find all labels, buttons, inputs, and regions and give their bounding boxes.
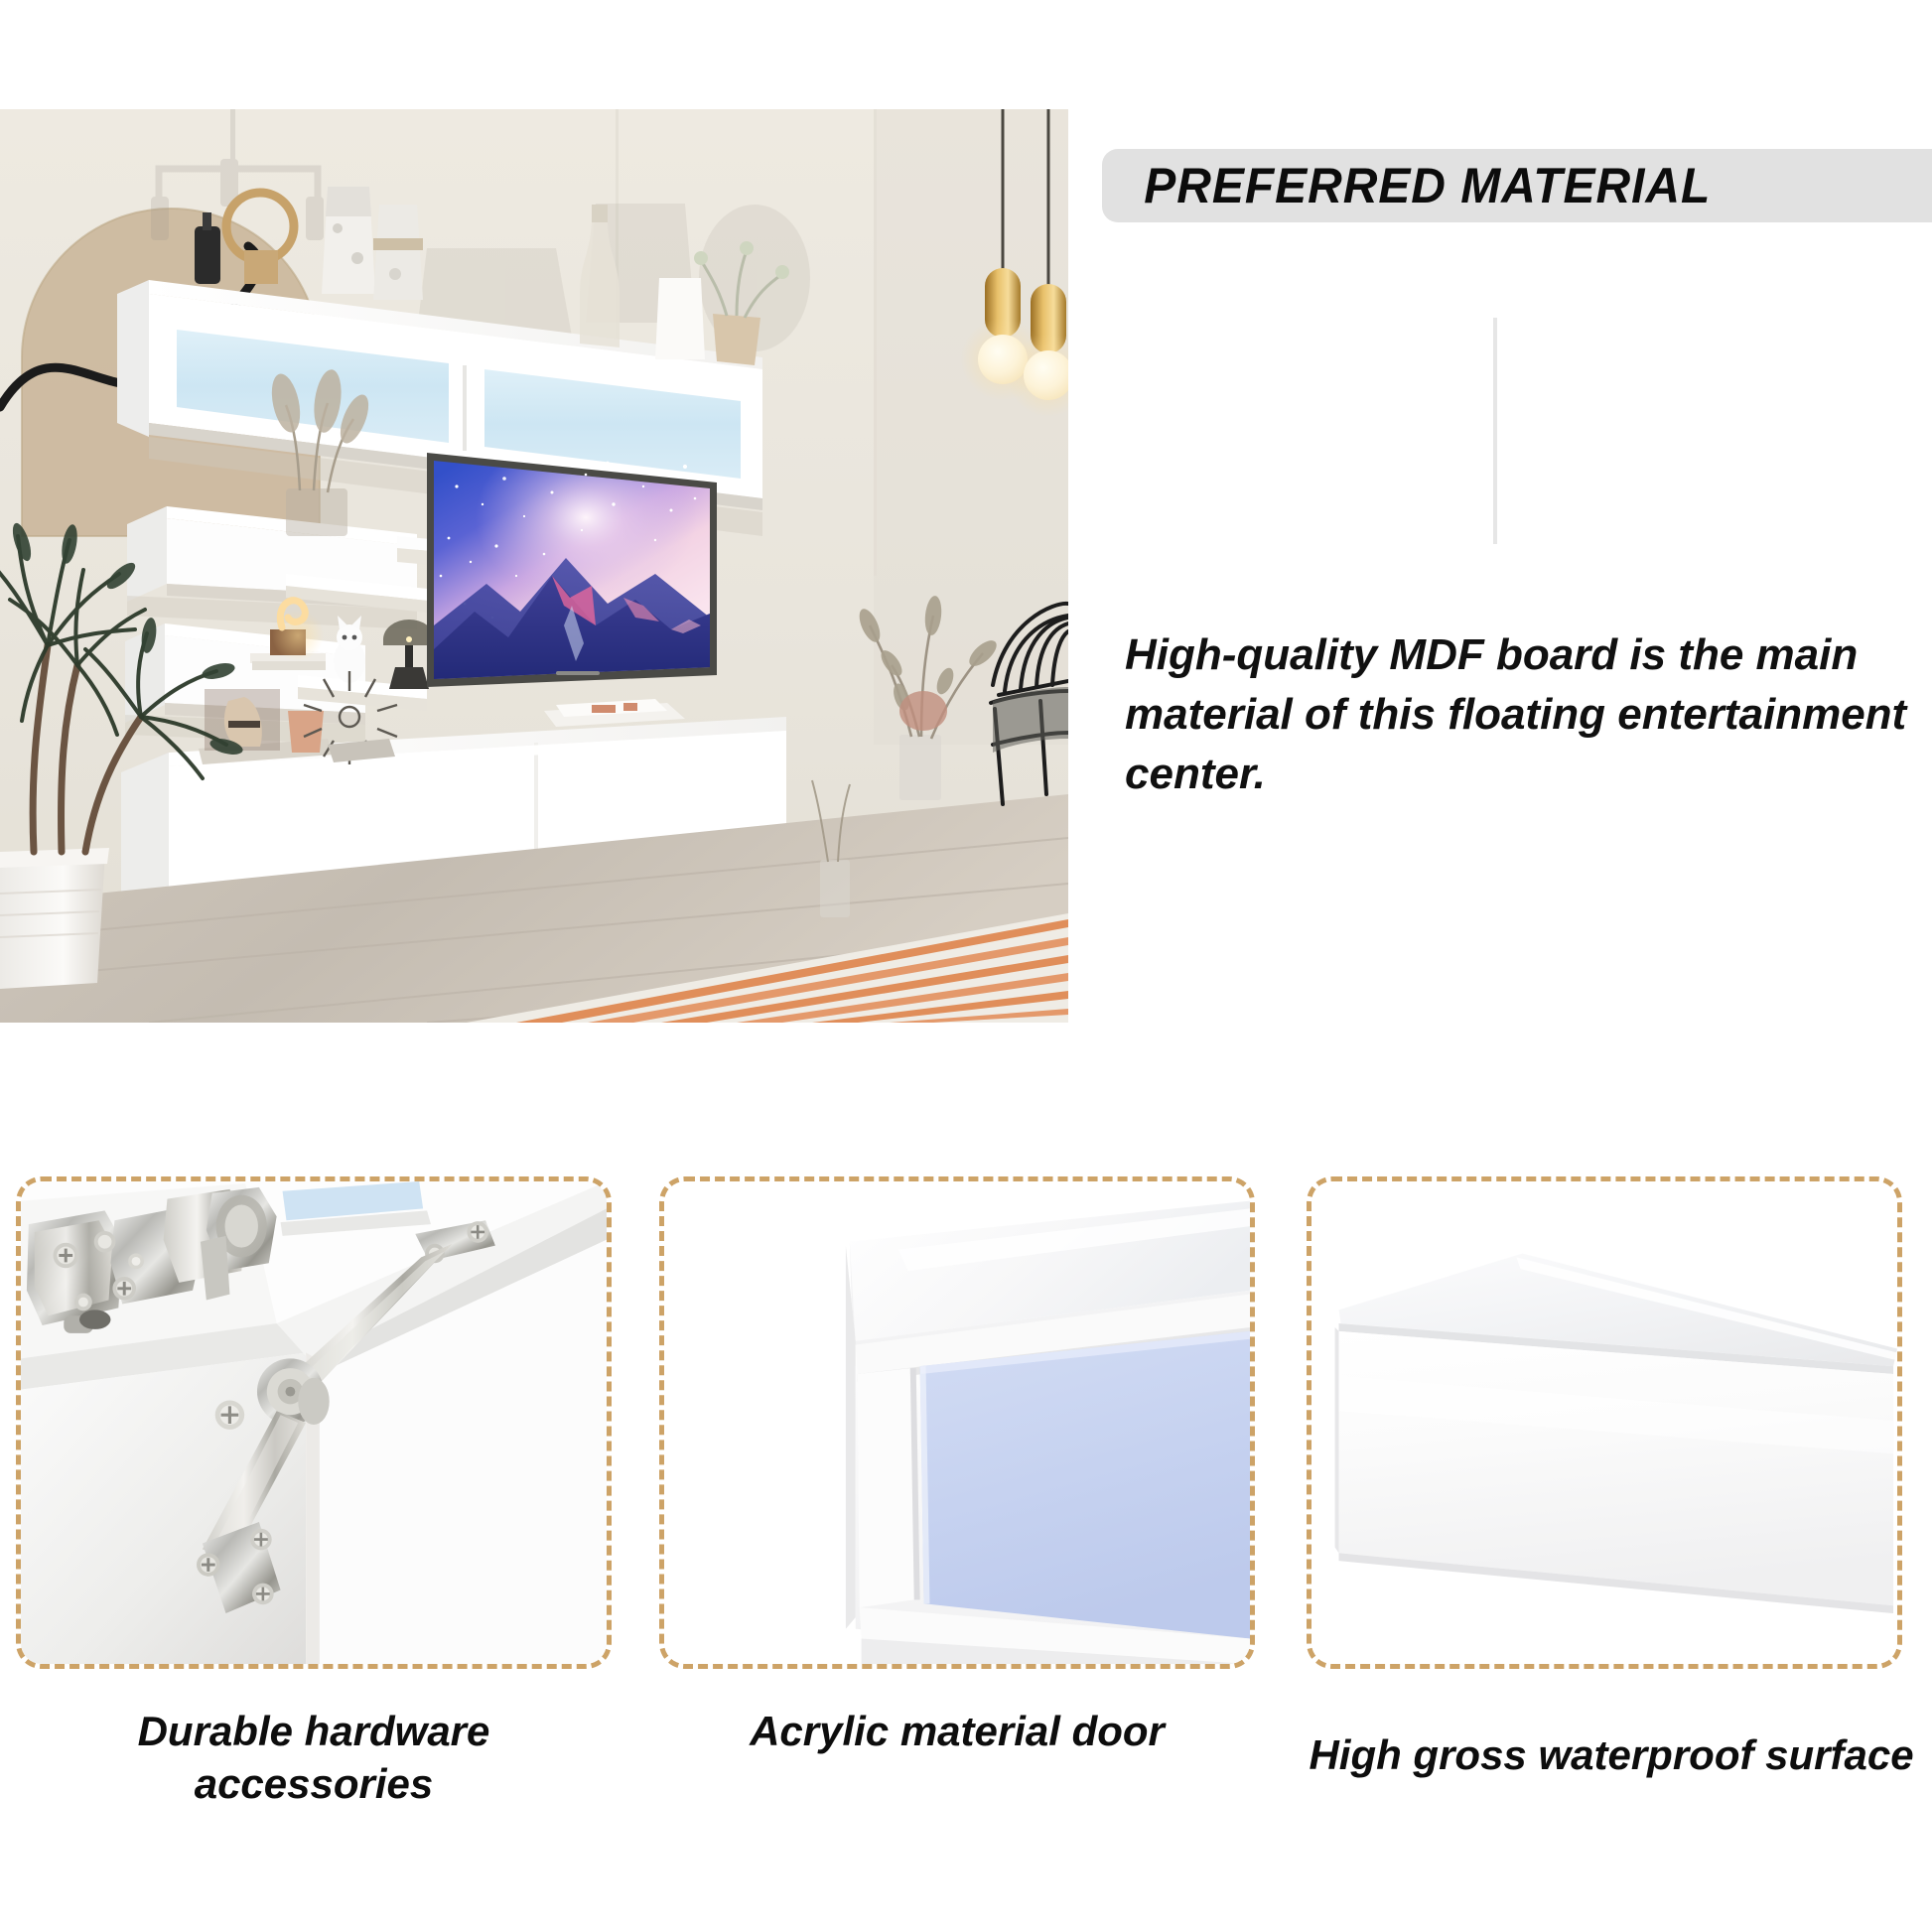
hinge-hardware-illustration	[21, 1181, 607, 1664]
acrylic-door-illustration	[664, 1181, 1250, 1664]
gloss-cabinet-illustration	[1311, 1181, 1897, 1664]
caption-line: Durable hardware	[6, 1706, 621, 1758]
material-description: High-quality MDF board is the main mater…	[1125, 625, 1929, 803]
hero-room-photo	[0, 109, 1068, 1023]
banner-title: PREFERRED MATERIAL	[1102, 157, 1711, 214]
infographic-canvas: PREFERRED MATERIAL High-quality MDF boar…	[0, 0, 1932, 1932]
caption-acrylic-door: Acrylic material door	[649, 1706, 1265, 1758]
caption-line: accessories	[6, 1758, 621, 1811]
header-banner: PREFERRED MATERIAL	[1102, 149, 1932, 222]
detail-panel-hardware	[16, 1176, 612, 1669]
caption-hardware: Durable hardware accessories	[6, 1706, 621, 1810]
caption-line: Acrylic material door	[649, 1706, 1265, 1758]
vertical-divider	[1493, 318, 1497, 544]
caption-line: High gross waterproof surface	[1291, 1729, 1932, 1782]
caption-gloss-surface: High gross waterproof surface	[1291, 1729, 1932, 1782]
room-scene-illustration	[0, 109, 1068, 1023]
detail-panel-acrylic-door	[659, 1176, 1255, 1669]
detail-panel-gloss-surface	[1307, 1176, 1902, 1669]
